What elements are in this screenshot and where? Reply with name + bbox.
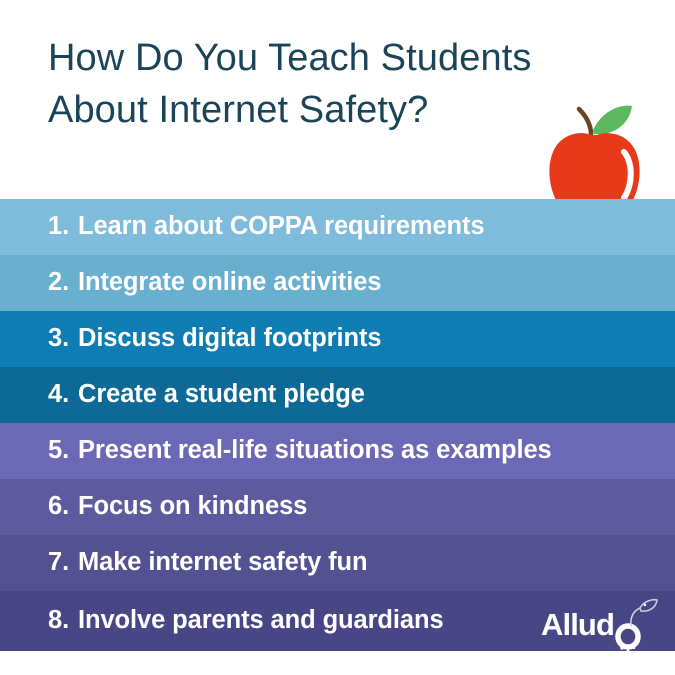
- logo-o-ring: [618, 626, 638, 647]
- list-item-text: 2. Integrate online activities: [48, 270, 381, 296]
- list-item[interactable]: 1. Learn about COPPA requirements: [0, 199, 675, 255]
- list-item-label: Discuss digital footprints: [78, 324, 381, 352]
- list-item-number: 8.: [48, 608, 78, 634]
- list-item-text: 6. Focus on kindness: [48, 494, 307, 520]
- list-item[interactable]: 6. Focus on kindness: [0, 479, 675, 535]
- list-item-text: 3. Discuss digital footprints: [48, 326, 381, 352]
- list-item-number: 6.: [48, 494, 78, 520]
- list-item-number: 7.: [48, 550, 78, 576]
- list-item[interactable]: 7. Make internet safety fun: [0, 535, 675, 591]
- list-item-label: Integrate online activities: [78, 268, 381, 296]
- list-item-text: 5. Present real-life situations as examp…: [48, 438, 552, 464]
- list-item-label: Learn about COPPA requirements: [78, 212, 485, 240]
- list-item-number: 5.: [48, 438, 78, 464]
- alludo-logo[interactable]: Allud: [541, 601, 663, 653]
- list-item[interactable]: 5. Present real-life situations as examp…: [0, 423, 675, 479]
- list-item-label: Make internet safety fun: [78, 548, 368, 576]
- list-item-label: Involve parents and guardians: [78, 606, 444, 634]
- list-item[interactable]: 2. Integrate online activities: [0, 255, 675, 311]
- infographic-canvas: How Do You Teach Students About Internet…: [0, 0, 675, 675]
- list-item-number: 2.: [48, 270, 78, 296]
- alludo-apple-o-icon: [607, 598, 663, 653]
- logo-dot-d: [644, 604, 646, 606]
- list-item[interactable]: 4. Create a student pledge: [0, 367, 675, 423]
- list-item-number: 3.: [48, 326, 78, 352]
- logo-dot-b: [627, 650, 630, 653]
- apple-leaf-icon: [593, 106, 632, 135]
- list-item-label: Focus on kindness: [78, 492, 307, 520]
- logo-stem-icon: [631, 608, 640, 626]
- list-item-label: Present real-life situations as examples: [78, 436, 552, 464]
- list-item-number: 4.: [48, 382, 78, 408]
- logo-dot-c: [633, 647, 635, 649]
- list-item-label: Create a student pledge: [78, 380, 365, 408]
- list-item-text: 4. Create a student pledge: [48, 382, 365, 408]
- list-item-text: 1. Learn about COPPA requirements: [48, 214, 485, 240]
- list-item[interactable]: 3. Discuss digital footprints: [0, 311, 675, 367]
- logo-dot-a: [620, 646, 623, 649]
- list-item-number: 1.: [48, 214, 78, 240]
- list-item-text: 7. Make internet safety fun: [48, 550, 368, 576]
- list-item-text: 8. Involve parents and guardians: [48, 608, 444, 634]
- logo-leaf-icon: [640, 600, 657, 611]
- logo-wordmark: Allud: [541, 609, 614, 640]
